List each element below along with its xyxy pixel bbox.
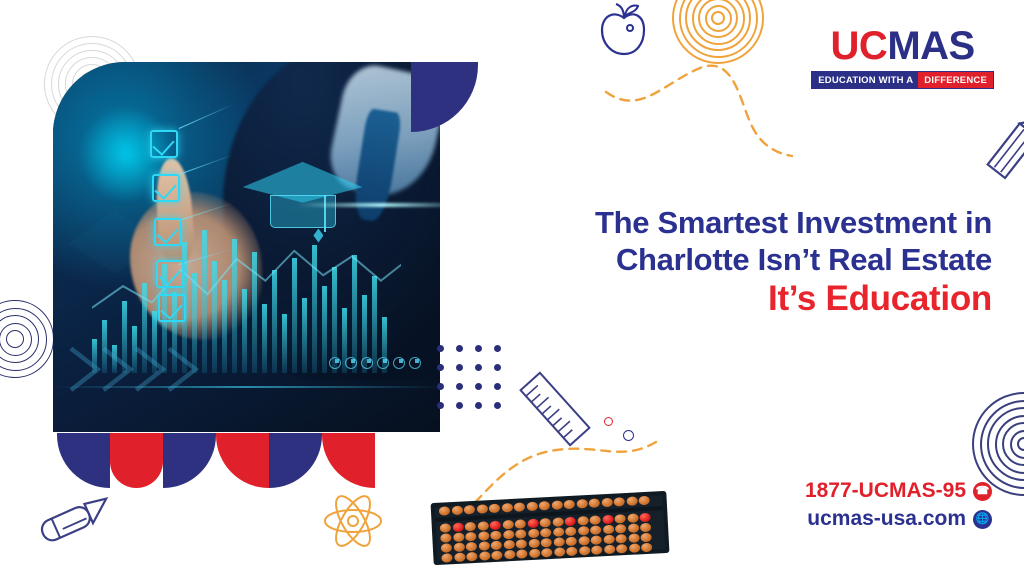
ucmas-logo[interactable]: UCMAS EDUCATION WITH A DIFFERENCE — [811, 26, 994, 89]
grid-dot — [437, 383, 444, 390]
hero-image — [53, 62, 440, 432]
abacus-bead — [490, 521, 501, 531]
abacus-bead — [453, 543, 464, 553]
abacus-bead — [465, 522, 476, 532]
abacus-bead — [577, 516, 588, 526]
abacus-bead — [603, 535, 614, 545]
abacus-bead — [489, 504, 500, 514]
abacus-bead — [478, 531, 489, 541]
checklist-checkbox — [158, 294, 186, 322]
abacus-bead — [502, 520, 513, 530]
pie-chart-row — [329, 357, 421, 369]
abacus-bead — [564, 500, 575, 510]
abacus-bead — [589, 498, 600, 508]
abacus-bead — [441, 553, 452, 563]
checklist-checkbox — [150, 130, 178, 158]
line-chart-hologram — [92, 240, 402, 321]
abacus-bead — [453, 533, 464, 543]
website-row[interactable]: ucmas-usa.com 🌐 — [805, 507, 992, 531]
abacus-bead — [628, 533, 639, 543]
abacus-bead — [528, 539, 539, 549]
abacus-bead — [478, 541, 489, 551]
grid-dot — [456, 345, 463, 352]
grid-dot — [494, 383, 501, 390]
checklist-checkbox — [156, 260, 184, 288]
checklist-checkbox — [154, 218, 182, 246]
abacus-bead — [539, 518, 550, 528]
abacus-bead — [628, 543, 639, 553]
abacus-bead — [490, 531, 501, 541]
semicircle-shape — [110, 433, 163, 488]
abacus-bead — [626, 496, 637, 506]
abacus-bead — [516, 539, 527, 549]
abacus-bead — [540, 528, 551, 538]
grid-dot — [437, 364, 444, 371]
logo-uc-text: UC — [831, 24, 888, 68]
abacus-bead — [615, 524, 626, 534]
abacus-bead — [466, 542, 477, 552]
abacus-bead — [477, 521, 488, 531]
semicircle-shape — [269, 433, 322, 488]
abacus-bead — [539, 501, 550, 511]
abacus-bead — [614, 514, 625, 524]
abacus-bead — [577, 526, 588, 536]
abacus-bead — [516, 549, 527, 559]
semicircle-shape — [163, 433, 216, 488]
abacus-bead — [451, 506, 462, 516]
abacus-bead — [541, 538, 552, 548]
abacus-bead — [603, 545, 614, 555]
abacus-bead — [566, 547, 577, 557]
tagline-part2: DIFFERENCE — [918, 72, 993, 88]
abacus-bead — [578, 536, 589, 546]
contact-block: 1877-UCMAS-95 ☎ ucmas-usa.com 🌐 — [805, 479, 992, 531]
circle-dot-icon — [623, 430, 634, 441]
poster-canvas: UCMAS EDUCATION WITH A DIFFERENCE The Sm… — [0, 0, 1024, 559]
abacus-bead — [553, 537, 564, 547]
ruler-icon — [516, 368, 594, 450]
dot-grid — [437, 345, 501, 409]
abacus-bead — [452, 523, 463, 533]
grid-dot — [456, 402, 463, 409]
abacus-bead — [640, 523, 651, 533]
abacus-bead — [566, 537, 577, 547]
apple-icon — [596, 2, 652, 60]
abacus-bead — [465, 532, 476, 542]
phone-row[interactable]: 1877-UCMAS-95 ☎ — [805, 479, 992, 503]
abacus-bead — [613, 497, 624, 507]
grid-dot — [475, 402, 482, 409]
abacus-bead — [514, 502, 525, 512]
abacus-bead — [627, 513, 638, 523]
logo-mas-text: MAS — [887, 24, 974, 68]
ring — [711, 11, 725, 25]
headline-line-2: Charlotte Isn’t Real Estate — [595, 242, 992, 279]
website-url: ucmas-usa.com — [807, 507, 966, 531]
grid-dot — [494, 345, 501, 352]
concentric-rings-icon — [0, 300, 54, 378]
abacus-bead — [602, 515, 613, 525]
chart-bar — [282, 314, 287, 373]
abacus-bead — [640, 533, 651, 543]
ring — [6, 330, 24, 348]
abacus-bead — [464, 505, 475, 515]
abacus-bead — [641, 543, 652, 553]
abacus-icon — [431, 491, 670, 565]
grid-dot — [437, 402, 444, 409]
headline-line-1: The Smartest Investment in — [595, 205, 992, 242]
abacus-bead — [564, 517, 575, 527]
abacus-bead — [454, 552, 465, 562]
abacus-bead — [601, 498, 612, 508]
abacus-bead — [639, 513, 650, 523]
chevron-arrows — [65, 336, 243, 403]
abacus-bead — [579, 546, 590, 556]
logo-wordmark: UCMAS — [811, 26, 994, 66]
abacus-bead — [576, 499, 587, 509]
abacus-bead — [515, 519, 526, 529]
abacus-bead — [638, 496, 649, 506]
abacus-bead — [440, 523, 451, 533]
headline: The Smartest Investment in Charlotte Isn… — [595, 205, 992, 319]
abacus-bead — [589, 515, 600, 525]
circle-dot-icon — [604, 417, 613, 426]
abacus-bead — [615, 534, 626, 544]
grid-dot — [475, 345, 482, 352]
checklist-checkbox — [152, 174, 180, 202]
phone-number: 1877-UCMAS-95 — [805, 479, 966, 503]
grid-dot — [437, 345, 444, 352]
pencil-icon — [985, 112, 1024, 186]
abacus-bead — [627, 523, 638, 533]
abacus-bead — [616, 544, 627, 554]
grid-dot — [475, 383, 482, 390]
semicircle-shape — [57, 433, 110, 488]
abacus-bead — [565, 527, 576, 537]
abacus-bead — [515, 529, 526, 539]
atom-icon — [322, 490, 384, 552]
abacus-bead — [441, 543, 452, 553]
abacus-bead — [440, 533, 451, 543]
abacus-bead — [503, 540, 514, 550]
abacus-bead — [501, 503, 512, 513]
headline-line-3: It’s Education — [595, 278, 992, 319]
abacus-bead — [476, 504, 487, 514]
semicircle-pattern — [57, 433, 375, 488]
logo-tagline: EDUCATION WITH A DIFFERENCE — [811, 71, 994, 89]
globe-icon: 🌐 — [973, 510, 992, 529]
grid-dot — [456, 383, 463, 390]
abacus-bead — [527, 519, 538, 529]
phone-icon: ☎ — [973, 482, 992, 501]
tagline-part1: EDUCATION WITH A — [812, 72, 918, 88]
abacus-bead — [541, 548, 552, 558]
semicircle-shape — [216, 433, 269, 488]
abacus-bead — [590, 535, 601, 545]
abacus-bead — [529, 549, 540, 559]
quarter-circle — [411, 62, 478, 132]
abacus-bead — [590, 525, 601, 535]
abacus-bead — [552, 517, 563, 527]
semicircle-shape — [322, 433, 375, 488]
abacus-bead — [504, 550, 515, 560]
graduation-cap-tassel — [324, 195, 326, 232]
grid-dot — [456, 364, 463, 371]
ring — [1017, 437, 1024, 451]
abacus-bead — [526, 502, 537, 512]
abacus-bead — [466, 552, 477, 562]
grid-dot — [494, 364, 501, 371]
abacus-bead — [439, 506, 450, 516]
abacus-bead — [554, 547, 565, 557]
abacus-bead — [491, 541, 502, 551]
abacus-bead — [528, 529, 539, 539]
abacus-bead — [503, 530, 514, 540]
abacus-bead — [602, 525, 613, 535]
grid-dot — [475, 364, 482, 371]
abacus-bead — [591, 545, 602, 555]
pencil-icon — [30, 492, 116, 548]
abacus-bead — [479, 551, 490, 561]
abacus-bead — [551, 500, 562, 510]
abacus-bead — [552, 527, 563, 537]
grid-dot — [494, 402, 501, 409]
lens-flare — [297, 203, 440, 207]
